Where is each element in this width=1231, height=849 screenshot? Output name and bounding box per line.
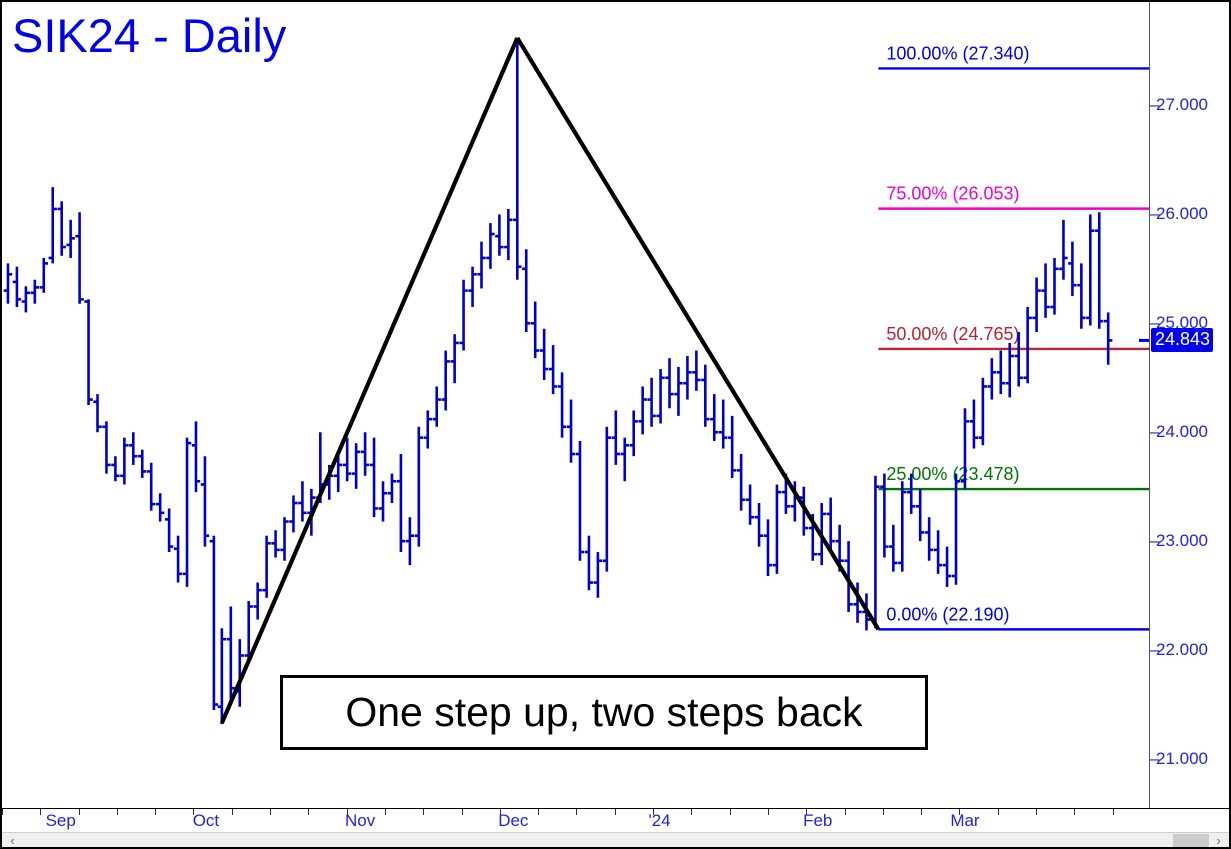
date-axis-tick [270, 809, 271, 815]
price-axis[interactable]: –27.000–26.000–25.000–24.000–23.000–22.0… [1149, 2, 1231, 808]
date-axis-tick [423, 809, 424, 815]
fib-label-50.00: 50.00% (24.765) [886, 324, 1019, 344]
date-axis-tick [155, 809, 156, 815]
price-tick-label: –21.000 [1150, 749, 1208, 769]
date-axis-tick [538, 809, 539, 815]
date-axis-tick [845, 809, 846, 815]
date-axis-tick [998, 809, 999, 815]
chart-application: SIK24 - Daily 100.00% (27.340)75.00% (26… [0, 0, 1231, 849]
annotation-text: One step up, two steps back [345, 689, 862, 736]
price-tick-value: 23.000 [1156, 531, 1208, 550]
date-axis-tick [1074, 809, 1075, 815]
price-tick-value: 27.000 [1156, 95, 1208, 114]
date-tick-label: Nov [345, 811, 375, 831]
price-tick-value: 26.000 [1156, 204, 1208, 223]
price-tick-label: –22.000 [1150, 640, 1208, 660]
price-tick-label: –24.000 [1150, 422, 1208, 442]
date-axis-tick [576, 809, 577, 815]
date-tick-label: Mar [950, 811, 979, 831]
date-axis-tick [921, 809, 922, 815]
date-axis-tick [615, 809, 616, 815]
date-tick-label: Oct [193, 811, 219, 831]
price-tick-label: –23.000 [1150, 531, 1208, 551]
date-axis-tick [768, 809, 769, 815]
date-axis-tick [232, 809, 233, 815]
fib-label-75.00: 75.00% (26.053) [886, 184, 1019, 204]
date-axis-tick [500, 809, 501, 815]
date-tick-label: Sep [46, 811, 76, 831]
fib-label-0.00: 0.00% (22.190) [886, 604, 1009, 624]
date-axis-tick [2, 809, 3, 815]
date-tick-label: '24 [648, 811, 670, 831]
date-axis-tick [806, 809, 807, 815]
annotation-box: One step up, two steps back [280, 675, 928, 750]
price-tick-label: –27.000 [1150, 95, 1208, 115]
trendline-down-leg [517, 38, 878, 629]
date-axis-tick [40, 809, 41, 815]
date-axis[interactable]: SepOctNovDec'24FebMar [2, 808, 1231, 832]
date-tick-label: Dec [498, 811, 528, 831]
date-axis-tick [347, 809, 348, 815]
price-tick-value: 24.000 [1156, 422, 1208, 441]
price-tick-value: 21.000 [1156, 749, 1208, 768]
scroll-right-icon[interactable]: › [1210, 833, 1227, 849]
last-price-badge: 24.843 [1151, 328, 1213, 352]
date-axis-tick [691, 809, 692, 815]
date-axis-tick [308, 809, 309, 815]
date-tick-label: Feb [803, 811, 832, 831]
horizontal-scrollbar[interactable]: ‹ › [2, 832, 1229, 849]
date-axis-tick [462, 809, 463, 815]
date-axis-tick [117, 809, 118, 815]
trendline-up-leg [222, 38, 517, 723]
date-axis-tick [79, 809, 80, 815]
price-tick-value: 22.000 [1156, 640, 1208, 659]
price-tick-label: –26.000 [1150, 204, 1208, 224]
scrollbar-thumb[interactable] [1173, 834, 1209, 849]
date-axis-tick [1113, 809, 1114, 815]
fib-label-25.00: 25.00% (23.478) [886, 464, 1019, 484]
date-axis-tick [1036, 809, 1037, 815]
scroll-left-icon[interactable]: ‹ [4, 833, 21, 849]
fib-label-100.00: 100.00% (27.340) [886, 43, 1029, 63]
date-axis-tick [959, 809, 960, 815]
date-axis-tick [883, 809, 884, 815]
date-axis-tick [730, 809, 731, 815]
date-axis-tick [385, 809, 386, 815]
date-axis-tick [653, 809, 654, 815]
date-axis-tick [193, 809, 194, 815]
